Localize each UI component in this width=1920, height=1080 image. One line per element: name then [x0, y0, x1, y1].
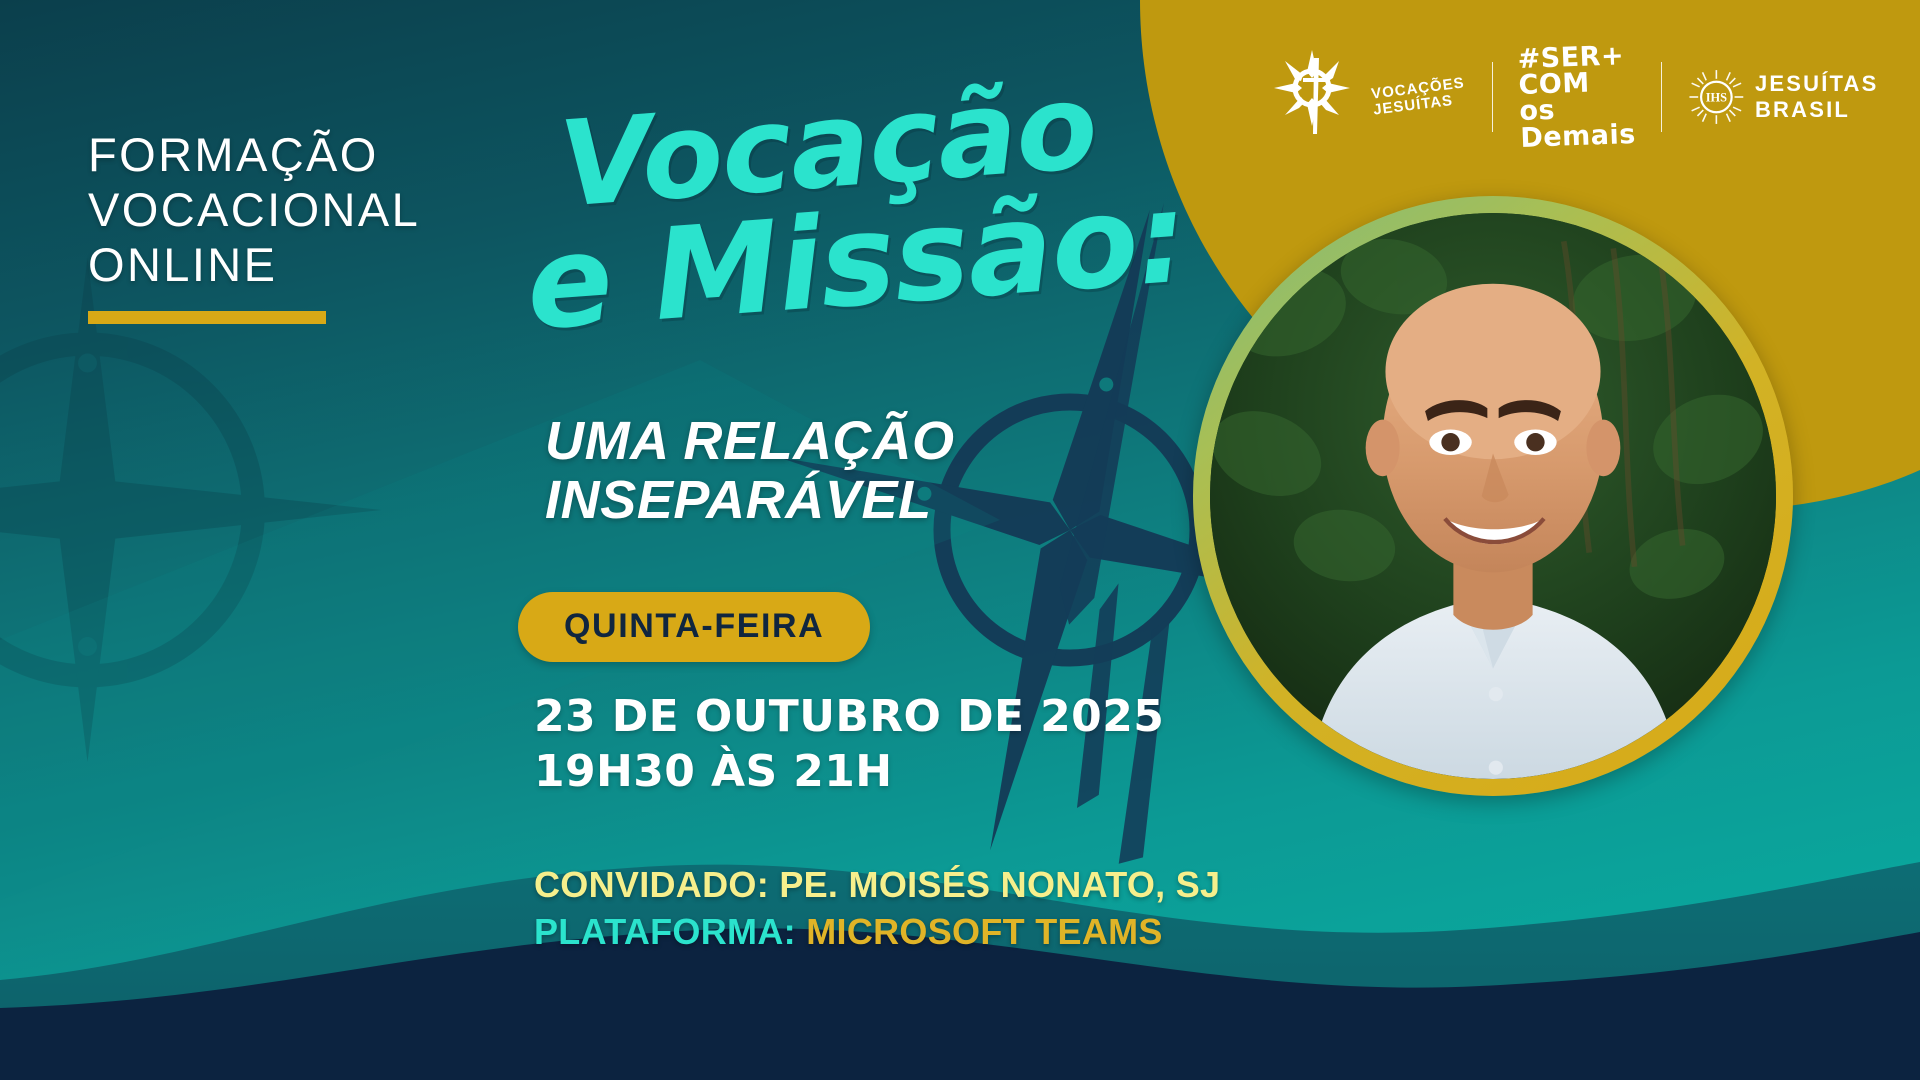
speaker-portrait — [1210, 213, 1776, 779]
ihs-sunburst-icon: IHS — [1688, 58, 1745, 136]
guest-row: CONVIDADO: PE. MOISÉS NONATO, SJ — [534, 862, 1220, 909]
platform-row: PLATAFORMA: MICROSOFT TEAMS — [534, 909, 1220, 956]
logo-jesuitas-brasil: IHS JESUÍTAS BRASIL — [1688, 58, 1920, 136]
kicker-line-3: ONLINE — [88, 238, 558, 293]
logo-vocacoes-jesuitas: VOCAÇÕES JESUÍTAS — [1270, 48, 1466, 146]
platform-name: MICROSOFT TEAMS — [806, 911, 1162, 952]
ihs-monogram: IHS — [1706, 90, 1727, 104]
platform-label: PLATAFORMA: — [534, 911, 796, 952]
guest-label: CONVIDADO: — [534, 864, 769, 905]
kicker-line-1: FORMAÇÃO — [88, 128, 558, 183]
logo-vocacoes-text: VOCAÇÕES JESUÍTAS — [1370, 76, 1467, 119]
subtitle: UMA RELAÇÃO INSEPARÁVEL — [545, 412, 1185, 531]
logo-jesuitas-brasil-text: JESUÍTAS BRASIL — [1755, 71, 1920, 123]
logo-bar: VOCAÇÕES JESUÍTAS #SER+ COM os Demais — [1270, 38, 1920, 156]
event-time: 19H30 ÀS 21H — [534, 745, 1164, 800]
event-date: 23 DE OUTUBRO DE 2025 — [534, 690, 1164, 745]
subtitle-line-2: INSEPARÁVEL — [545, 471, 1185, 530]
subtitle-line-1: UMA RELAÇÃO — [545, 412, 1185, 471]
weekday-badge-label: QUINTA-FEIRA — [564, 607, 824, 645]
sun-cross-icon — [1270, 48, 1362, 146]
logo-ser-line-3: Demais — [1520, 121, 1636, 151]
logo-ser-mais: #SER+ COM os Demais — [1519, 45, 1634, 150]
vocational-formation-poster: FORMAÇÃO VOCACIONAL ONLINE Vocação e Mis… — [0, 0, 1920, 1080]
speaker-portrait-illustration — [1210, 213, 1776, 779]
event-datetime: 23 DE OUTUBRO DE 2025 19H30 ÀS 21H — [534, 690, 1164, 799]
guest-name: PE. MOISÉS NONATO, SJ — [779, 864, 1220, 905]
event-details: CONVIDADO: PE. MOISÉS NONATO, SJ PLATAFO… — [534, 862, 1220, 956]
page-title: FORMAÇÃO VOCACIONAL ONLINE — [88, 128, 558, 324]
weekday-badge: QUINTA-FEIRA — [518, 592, 870, 662]
logo-divider-2 — [1661, 62, 1662, 132]
speaker-portrait-ring — [1193, 196, 1793, 796]
logo-ser-line-2: COM os — [1518, 69, 1635, 125]
logo-divider-1 — [1492, 62, 1493, 132]
kicker-line-2: VOCACIONAL — [88, 183, 558, 238]
gold-underline-rule — [88, 311, 326, 324]
